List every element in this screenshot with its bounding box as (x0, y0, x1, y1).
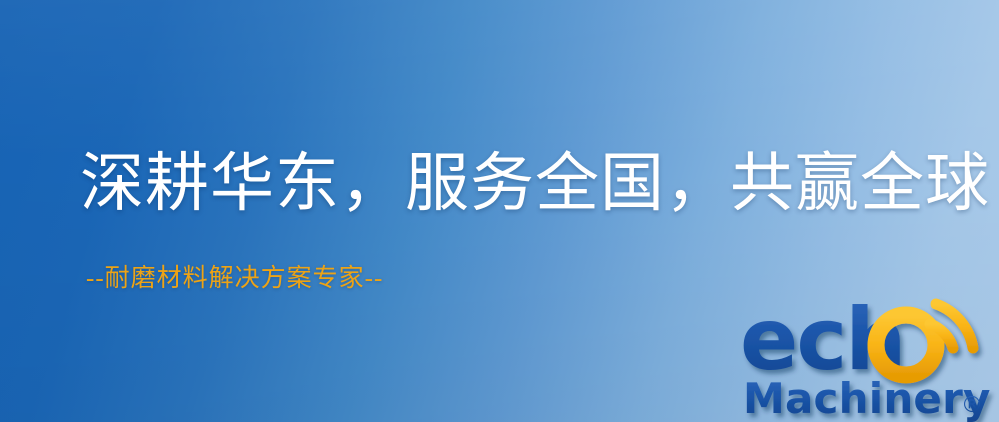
banner-subheadline: --耐磨材料解决方案专家-- (86, 266, 383, 291)
logo-tagline-machinery: Machinery (743, 374, 991, 422)
logo-trademark-symbol: ® (961, 393, 983, 418)
echo-machinery-logo[interactable]: ech Machinery ® (740, 296, 992, 420)
hero-banner: 深耕华东，服务全国，共赢全球 --耐磨材料解决方案专家-- (0, 0, 999, 422)
logo-tagline-group: Machinery ® (743, 374, 991, 422)
banner-headline: 深耕华东，服务全国，共赢全球 (80, 152, 990, 216)
